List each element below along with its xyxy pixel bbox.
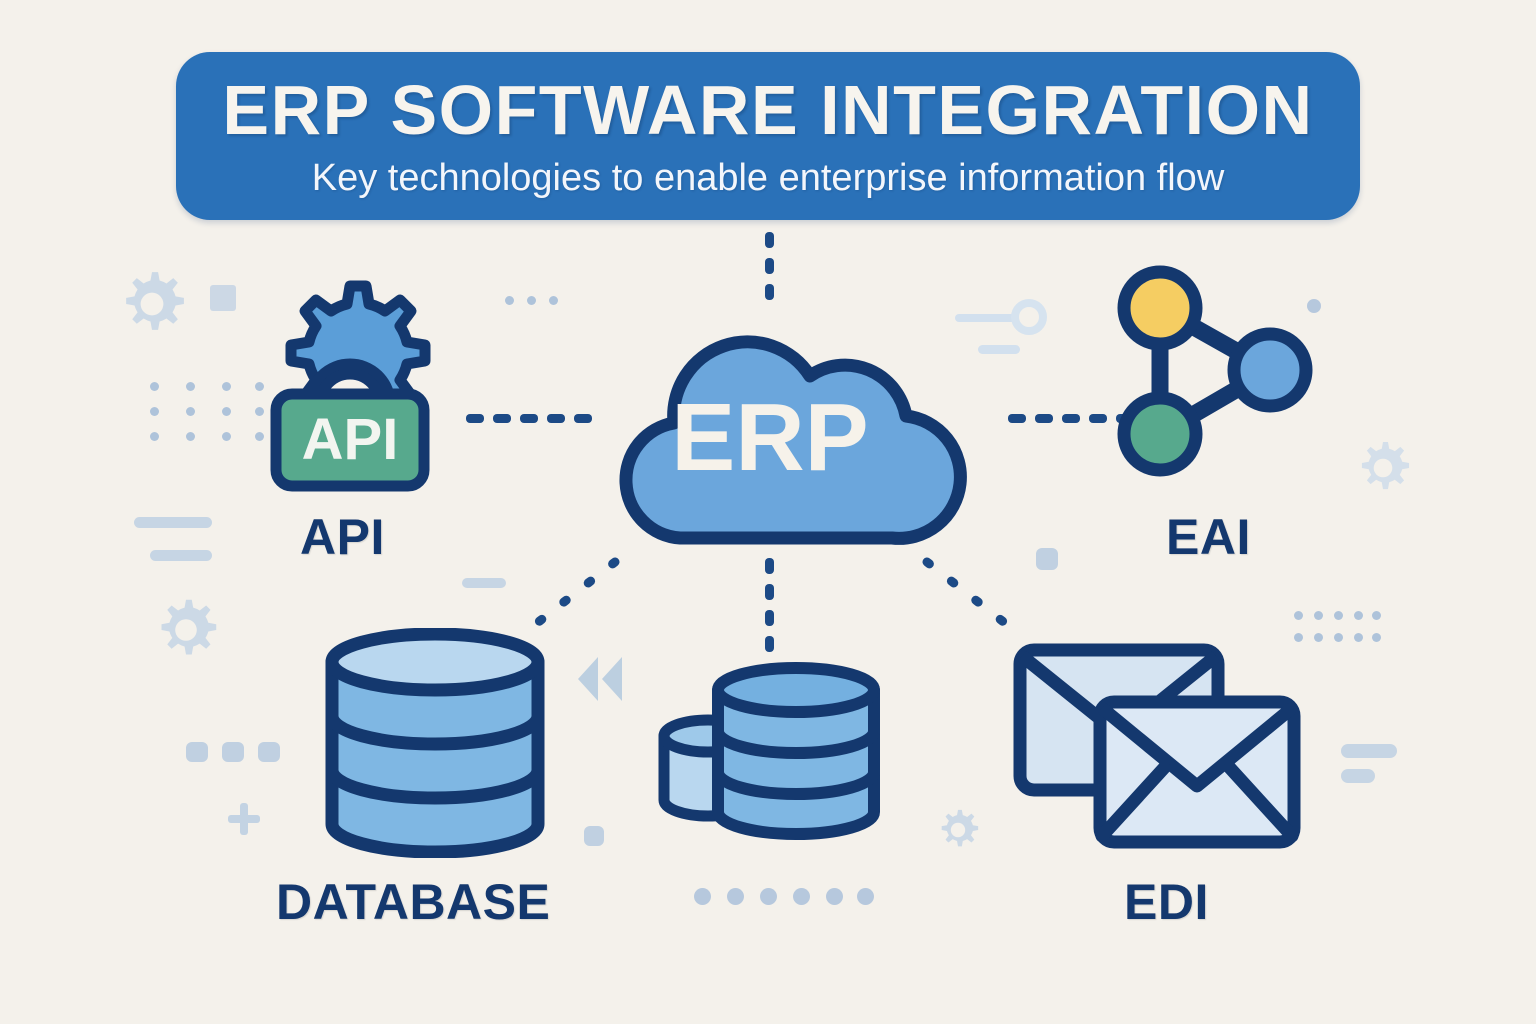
network-nodes-icon [1098,258,1318,488]
dot-grid-decoration [1294,611,1384,641]
database-cylinder-icon [320,628,550,858]
square-decoration [186,742,208,762]
square-decoration [222,742,244,762]
bar-decoration [462,578,506,588]
bar-decoration [1341,769,1375,783]
square-decoration [584,826,604,846]
double-chevron-left-icon [574,655,626,703]
stacked-disks-icon [656,658,906,848]
node-label-edi: EDI [1124,873,1209,931]
square-decoration [1036,548,1058,570]
bar-decoration [150,550,212,561]
envelopes-icon [1012,642,1302,852]
infographic-canvas: API API ERP EAI DATABASE [0,0,1536,1024]
connector-cloud-to-store [765,558,775,658]
node-label-api: API [300,508,385,566]
bar-decoration [1341,744,1397,758]
bar-decoration [978,345,1020,354]
square-decoration [258,742,280,762]
gear-padlock-icon: API [252,276,448,496]
page-title: ERP SOFTWARE INTEGRATION [222,75,1313,145]
dot-grid-decoration [505,296,565,308]
square-decoration [210,285,236,311]
dot-grid-decoration [694,888,874,908]
gear-decoration [1352,437,1414,499]
node-erp-cloud[interactable]: ERP [560,292,980,558]
connector-cloud-to-edi [922,556,1032,646]
node-eai[interactable] [1098,258,1318,488]
node-database[interactable] [320,628,550,858]
plus-decoration [228,815,260,823]
dot-grid-decoration [150,382,266,462]
node-label-eai: EAI [1166,508,1251,566]
page-subtitle: Key technologies to enable enterprise in… [312,159,1225,197]
bar-decoration [134,517,212,528]
title-banner: ERP SOFTWARE INTEGRATION Key technologie… [176,52,1360,220]
gear-decoration [114,266,190,342]
node-edi[interactable] [1012,642,1302,852]
gear-decoration [150,594,222,666]
node-label-database: DATABASE [276,873,550,931]
gear-decoration [934,806,982,854]
cloud-icon: ERP [560,292,980,558]
svg-text:API: API [302,407,399,472]
ring-line-decoration [1010,296,1048,338]
node-api[interactable]: API [252,276,448,496]
cloud-label: ERP [671,384,868,491]
node-data-store[interactable] [656,658,906,848]
